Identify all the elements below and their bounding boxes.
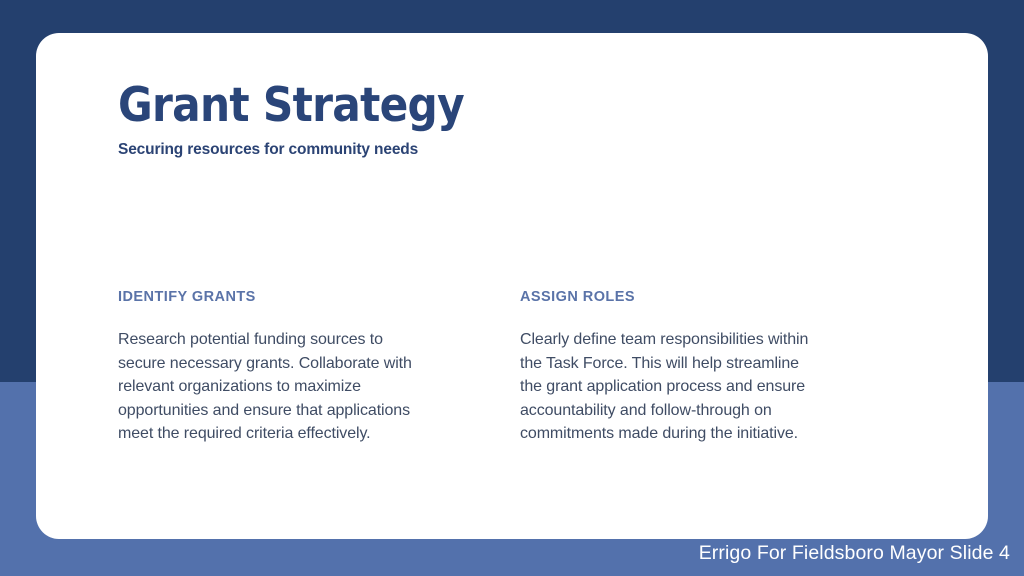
slide-footer-label: Errigo For Fieldsboro Mayor Slide 4: [699, 541, 1010, 565]
content-column-assign-roles: ASSIGN ROLES Clearly define team respons…: [520, 288, 860, 446]
title-block: Grant Strategy Securing resources for co…: [118, 80, 818, 160]
column-body-text: Research potential funding sources to se…: [118, 328, 428, 446]
slide-canvas: Grant Strategy Securing resources for co…: [0, 0, 1024, 576]
column-heading: IDENTIFY GRANTS: [118, 288, 458, 306]
page-subtitle: Securing resources for community needs: [118, 140, 818, 160]
column-body-text: Clearly define team responsibilities wit…: [520, 328, 820, 446]
page-title: Grant Strategy: [118, 80, 748, 132]
slide-content-card: Grant Strategy Securing resources for co…: [36, 33, 988, 539]
column-heading: ASSIGN ROLES: [520, 288, 860, 306]
content-columns: IDENTIFY GRANTS Research potential fundi…: [118, 288, 908, 446]
content-column-identify-grants: IDENTIFY GRANTS Research potential fundi…: [118, 288, 458, 446]
